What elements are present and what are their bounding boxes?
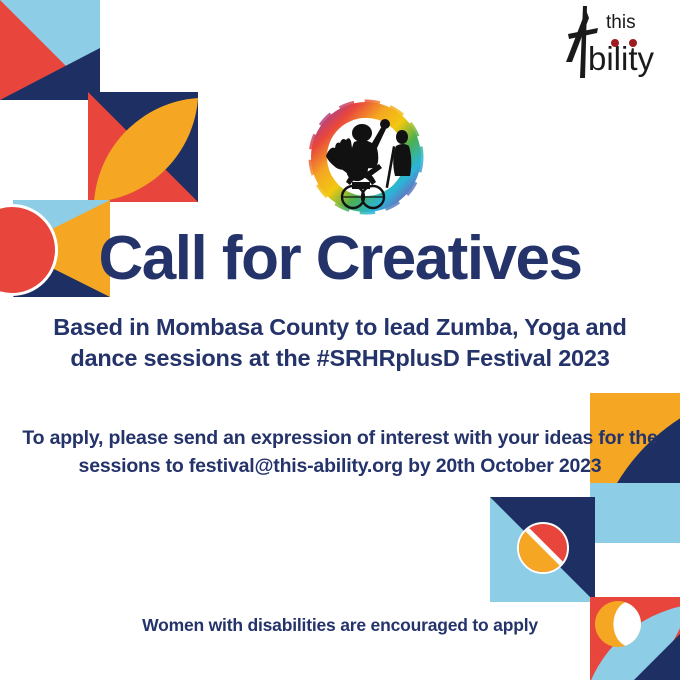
logo-dot-icon-2 xyxy=(629,39,637,47)
decor-split-circle xyxy=(517,522,569,574)
poster-canvas: this bility xyxy=(0,0,680,680)
this-ability-logo: this bility xyxy=(556,4,668,84)
subtitle-text: Based in Mombasa County to lead Zumba, Y… xyxy=(28,312,652,375)
encouragement-note: Women with disabilities are encouraged t… xyxy=(0,615,680,636)
logo-dot-icon-1 xyxy=(611,39,619,47)
decor-mid-right-square xyxy=(490,497,595,602)
logo-word-bility: bility xyxy=(588,40,655,77)
decor-orange-leaf-square xyxy=(88,92,198,202)
decor-orange-lens xyxy=(88,92,198,202)
disability-inclusion-emblem xyxy=(296,98,436,216)
application-instructions: To apply, please send an expression of i… xyxy=(14,424,666,481)
logo-word-this: this xyxy=(606,12,636,33)
decor-light-blue-block-right xyxy=(590,483,680,543)
decor-bottom-right-square xyxy=(590,597,680,680)
decor-top-left-fan xyxy=(0,0,100,100)
page-title: Call for Creatives xyxy=(0,228,680,290)
